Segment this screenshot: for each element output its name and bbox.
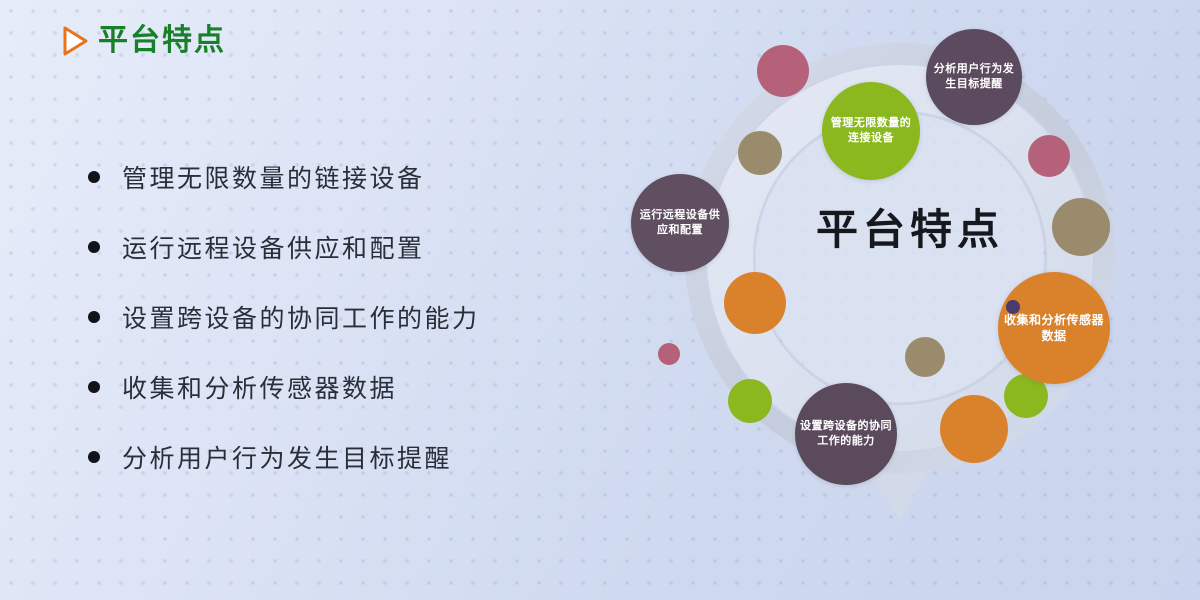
bullet-marker-icon [88, 311, 100, 323]
node-manage-devices-label: 管理无限数量的连接设备 [822, 116, 920, 146]
deco-bubble [738, 131, 782, 175]
deco-bubble [658, 343, 680, 365]
node-collect-sensor-label: 收集和分析传感器数据 [998, 312, 1110, 344]
node-analyze-behavior-label: 分析用户行为发生目标提醒 [926, 62, 1022, 92]
deco-bubble [1028, 135, 1070, 177]
node-collect-sensor[interactable]: 收集和分析传感器数据 [998, 272, 1110, 384]
deco-bubble [728, 379, 772, 423]
page-title: 平台特点 [62, 26, 226, 56]
list-item: 运行远程设备供应和配置 [88, 212, 548, 282]
play-triangle-icon [62, 26, 88, 56]
feature-bullet-list: 管理无限数量的链接设备 运行远程设备供应和配置 设置跨设备的协同工作的能力 收集… [88, 142, 548, 492]
bullet-marker-icon [88, 451, 100, 463]
list-item: 管理无限数量的链接设备 [88, 142, 548, 212]
accent-dot-purple-icon [1006, 300, 1020, 314]
list-item: 收集和分析传感器数据 [88, 352, 548, 422]
deco-bubble [724, 272, 786, 334]
node-remote-provision[interactable]: 运行远程设备供应和配置 [631, 174, 729, 272]
diagram-rings-graphic [600, 0, 1200, 600]
bullet-marker-icon [88, 241, 100, 253]
platform-features-diagram: 平台特点 管理无限数量的连接设备 分析用户行为发生目标提醒 收集和分析传感器数据… [600, 0, 1200, 600]
node-manage-devices[interactable]: 管理无限数量的连接设备 [822, 82, 920, 180]
node-cross-device-label: 设置跨设备的协同工作的能力 [795, 419, 897, 449]
node-analyze-behavior[interactable]: 分析用户行为发生目标提醒 [926, 29, 1022, 125]
diagram-center-label: 平台特点 [780, 196, 1040, 257]
page-title-text: 平台特点 [98, 26, 226, 56]
list-item-label: 收集和分析传感器数据 [122, 369, 397, 405]
list-item-label: 管理无限数量的链接设备 [122, 159, 425, 195]
bullet-marker-icon [88, 171, 100, 183]
list-item-label: 运行远程设备供应和配置 [122, 229, 425, 265]
bullet-marker-icon [88, 381, 100, 393]
deco-bubble [940, 395, 1008, 463]
deco-bubble [757, 45, 809, 97]
deco-bubble [905, 337, 945, 377]
slide-canvas: 平台特点 管理无限数量的链接设备 运行远程设备供应和配置 设置跨设备的协同工作的… [0, 0, 1200, 600]
deco-bubble [1052, 198, 1110, 256]
list-item-label: 分析用户行为发生目标提醒 [122, 439, 452, 475]
list-item: 设置跨设备的协同工作的能力 [88, 282, 548, 352]
list-item-label: 设置跨设备的协同工作的能力 [122, 299, 480, 335]
list-item: 分析用户行为发生目标提醒 [88, 422, 548, 492]
node-cross-device[interactable]: 设置跨设备的协同工作的能力 [795, 383, 897, 485]
node-remote-provision-label: 运行远程设备供应和配置 [631, 208, 729, 238]
